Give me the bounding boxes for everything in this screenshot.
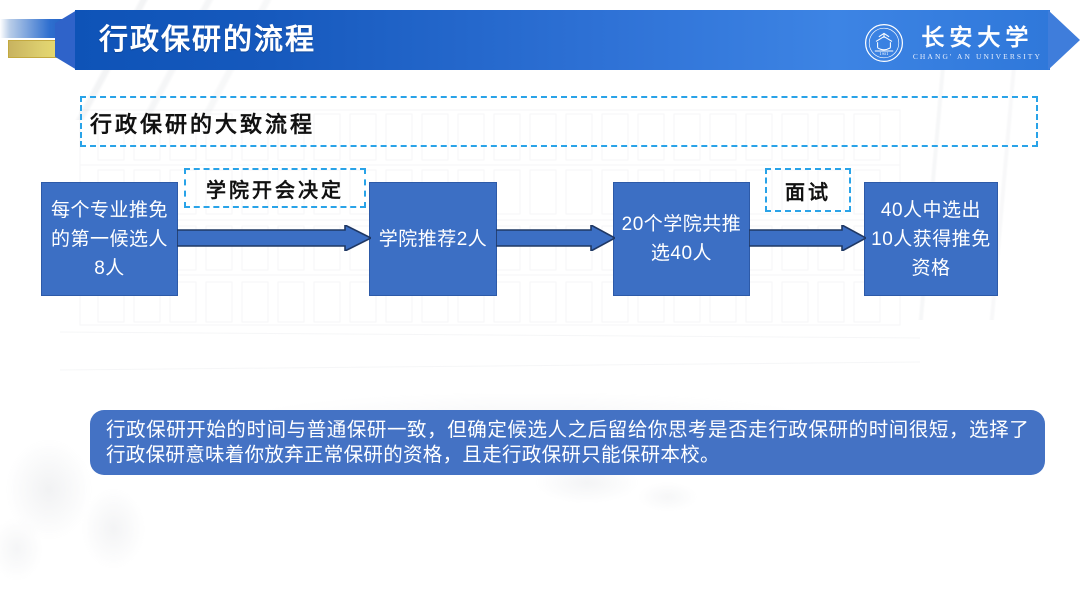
changan-university-emblem-icon: 1951 [864,23,904,63]
flow-step-4: 40人中选出10人获得推免资格 [864,182,998,296]
university-logo: 1951 长安大学 CHANG' AN UNIVERSITY [864,22,1042,64]
logo-wordmark: 长安大学 CHANG' AN UNIVERSITY [913,26,1042,61]
watermark-plaza [150,330,910,420]
flow-annotation-1: 学院开会决定 [184,168,366,208]
flow-annotation-1-text: 学院开会决定 [206,174,344,203]
flow-arrow-2 [496,225,615,251]
header-left-chevron [55,10,77,70]
slide-canvas: 行政保研的流程 1951 长安大学 CHANG' AN UNIVERSITY 行… [0,0,1080,600]
page-title: 行政保研的流程 [99,10,316,70]
flow-arrow-1 [177,225,371,251]
flow-step-1: 每个专业推免的第一候选人8人 [41,182,178,296]
svg-text:1951: 1951 [879,52,888,56]
header-right-chevron [1048,10,1080,70]
flow-step-3: 20个学院共推选40人 [613,182,750,296]
background-watermark [0,0,1080,600]
flow-annotation-2-text: 面试 [785,176,831,205]
slide-header: 行政保研的流程 1951 长安大学 CHANG' AN UNIVERSITY [55,10,1080,70]
flow-annotation-2: 面试 [765,168,851,212]
section-heading-text: 行政保研的大致流程 [90,107,315,139]
flow-step-2: 学院推荐2人 [369,182,497,296]
logo-chinese-name: 长安大学 [921,26,1033,49]
summary-panel: 行政保研开始的时间与普通保研一致，但确定候选人之后留给你思考是否走行政保研的时间… [90,410,1045,475]
flow-arrow-3 [749,225,866,251]
logo-english-name: CHANG' AN UNIVERSITY [913,53,1042,61]
